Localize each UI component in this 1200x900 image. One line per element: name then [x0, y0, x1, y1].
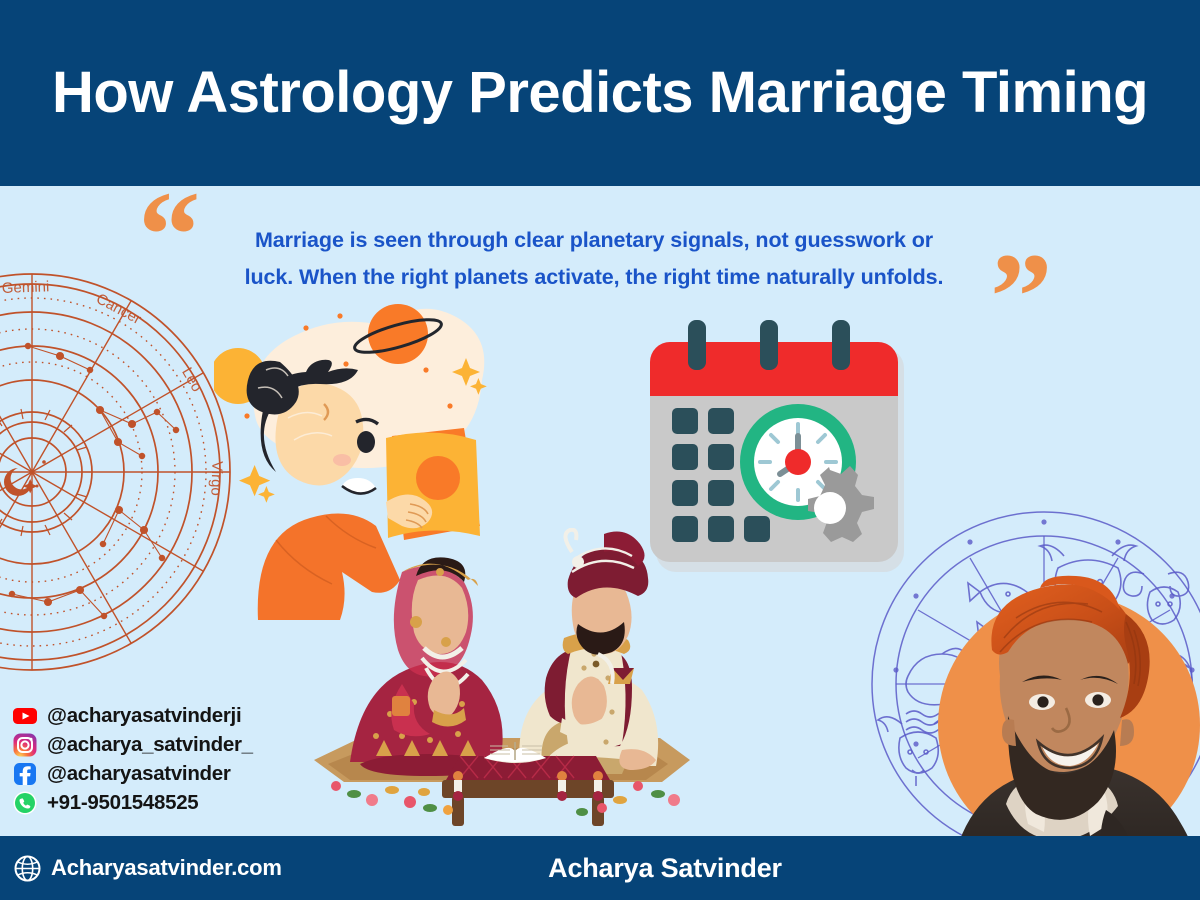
social-links-list: @acharyasatvinderji @acharya_satvinder_ — [12, 702, 253, 818]
wheel-left-label-gemini: Gemini — [2, 278, 50, 297]
social-handle-facebook[interactable]: @acharyasatvinder — [47, 762, 231, 786]
social-handle-youtube[interactable]: @acharyasatvinderji — [47, 704, 241, 728]
bride — [350, 557, 503, 776]
bride-face — [412, 576, 469, 655]
youtube-icon[interactable] — [12, 703, 38, 729]
whatsapp-icon[interactable] — [12, 790, 38, 816]
instagram-icon[interactable] — [12, 732, 38, 758]
quote-open-mark: “ — [138, 174, 201, 299]
page-title: How Astrology Predicts Marriage Timing — [40, 62, 1160, 124]
social-row-whatsapp[interactable]: +91-9501548525 — [12, 789, 253, 817]
bride-maang-tikka — [436, 568, 444, 576]
poster-canvas: Aries Taurus Gemini Cancer Leo Virgo ♈ ♉… — [0, 0, 1200, 900]
astrologer-eye — [357, 431, 375, 453]
groom — [519, 530, 658, 774]
turban-jewel — [572, 556, 584, 568]
social-row-instagram[interactable]: @acharya_satvinder_ — [12, 731, 253, 759]
wedding-couple-illustration — [306, 528, 698, 838]
social-row-facebook[interactable]: @acharyasatvinder — [12, 760, 253, 788]
social-row-youtube[interactable]: @acharyasatvinderji — [12, 702, 253, 730]
footer-brand-name: Acharya Satvinder — [0, 853, 1200, 884]
header-bar: How Astrology Predicts Marriage Timing — [0, 0, 1200, 186]
zodiac-wheel-left: Aries Taurus Gemini Cancer Leo Virgo ♈ ♉… — [0, 272, 232, 672]
social-handle-whatsapp[interactable]: +91-9501548525 — [47, 791, 198, 815]
quote-close-mark: ” — [990, 236, 1053, 361]
facebook-icon[interactable] — [12, 761, 38, 787]
quote-text: Marriage is seen through clear planetary… — [236, 222, 952, 296]
social-handle-instagram[interactable]: @acharya_satvinder_ — [47, 733, 253, 757]
book-sun — [416, 456, 460, 500]
clock-center — [785, 449, 811, 475]
planet-orange — [368, 304, 428, 364]
astrologer-blush — [333, 454, 351, 466]
footer-bar: Acharyasatvinder.com Acharya Satvinder — [0, 836, 1200, 900]
turban-kalgi — [565, 530, 576, 552]
